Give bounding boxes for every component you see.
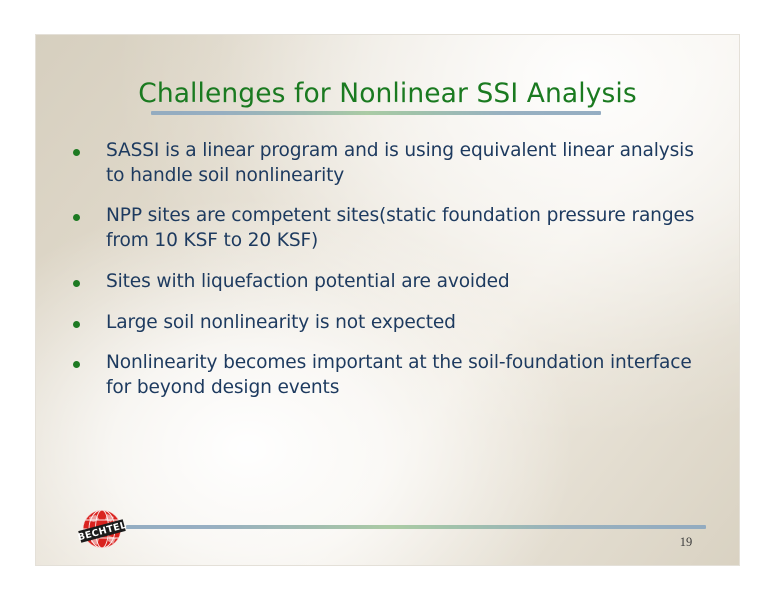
list-item: Sites with liquefaction potential are av… bbox=[66, 270, 716, 295]
list-item: NPP sites are competent sites(static fou… bbox=[66, 204, 716, 253]
list-item-label: NPP sites are competent sites(static fou… bbox=[106, 204, 716, 253]
list-item: Nonlinearity becomes important at the so… bbox=[66, 351, 716, 400]
list-item-label: Large soil nonlinearity is not expected bbox=[106, 311, 716, 336]
list-item: SASSI is a linear program and is using e… bbox=[66, 139, 716, 188]
bullet-dot-icon bbox=[73, 214, 80, 221]
page-number: 19 bbox=[656, 535, 716, 550]
bullet-dot-icon bbox=[73, 361, 80, 368]
bullet-dot-icon bbox=[73, 149, 80, 156]
bechtel-logo: BECHTEL bbox=[75, 504, 129, 554]
title-underline-rule bbox=[151, 111, 601, 115]
list-item-label: Nonlinearity becomes important at the so… bbox=[106, 351, 716, 400]
bullet-list: SASSI is a linear program and is using e… bbox=[66, 139, 716, 417]
slide-title-block: Challenges for Nonlinear SSI Analysis bbox=[36, 79, 739, 109]
page-title: Challenges for Nonlinear SSI Analysis bbox=[36, 79, 739, 109]
slide-canvas: Challenges for Nonlinear SSI Analysis SA… bbox=[35, 34, 740, 566]
list-item-label: SASSI is a linear program and is using e… bbox=[106, 139, 716, 188]
footer-divider-rule bbox=[126, 525, 706, 529]
list-item-label: Sites with liquefaction potential are av… bbox=[106, 270, 716, 295]
list-item: Large soil nonlinearity is not expected bbox=[66, 311, 716, 336]
slide-page: Challenges for Nonlinear SSI Analysis SA… bbox=[0, 0, 776, 600]
bullet-dot-icon bbox=[73, 280, 80, 287]
bullet-dot-icon bbox=[73, 321, 80, 328]
